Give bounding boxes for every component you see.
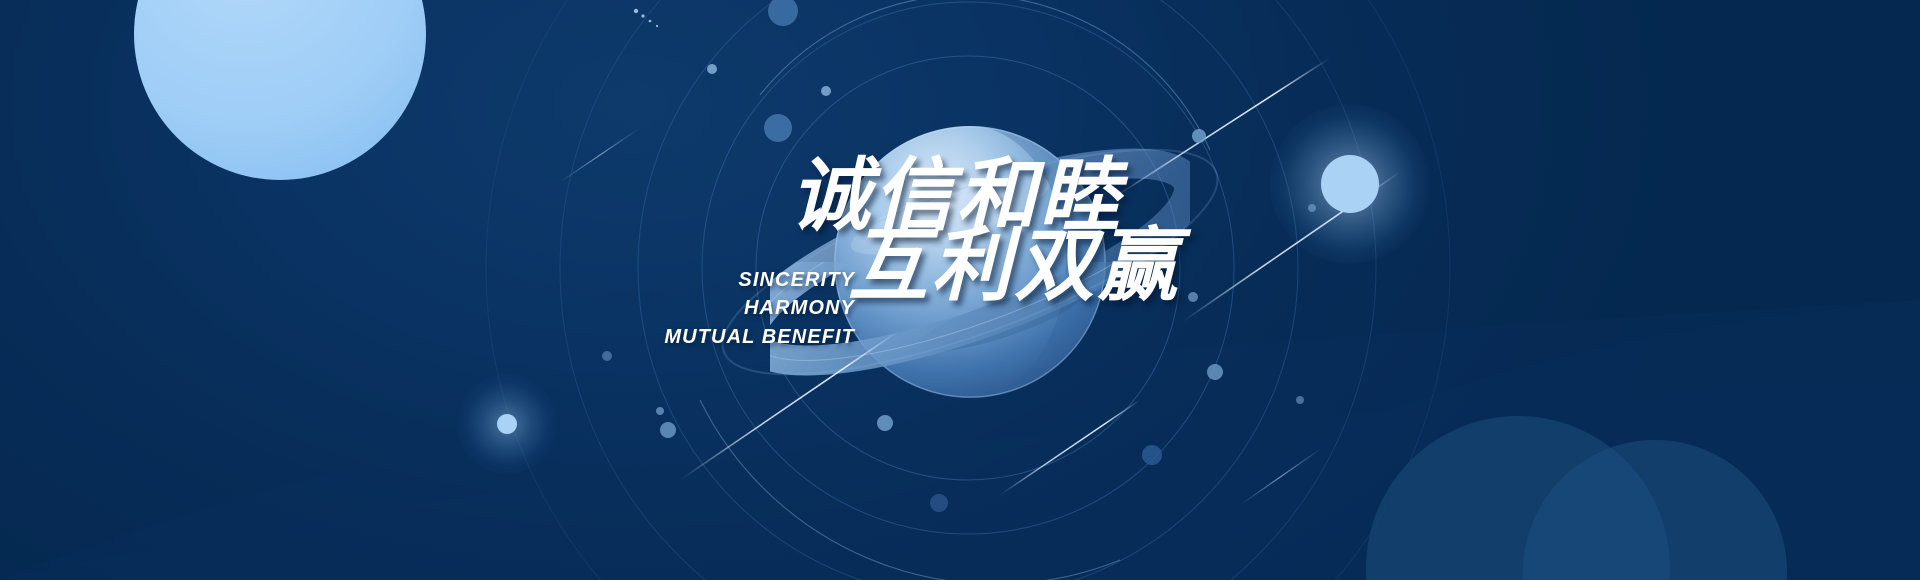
streak-upper-right-b bbox=[1182, 172, 1400, 322]
hero-banner: 诚信和睦 互利双赢 SINCERITY HARMONY MUTUAL BENEF… bbox=[0, 0, 1920, 580]
streak-upper-right-a bbox=[1110, 58, 1330, 200]
decor-circle-large-top-left bbox=[134, 0, 426, 180]
background-artwork bbox=[0, 0, 1920, 580]
streak-short-left bbox=[560, 128, 640, 182]
